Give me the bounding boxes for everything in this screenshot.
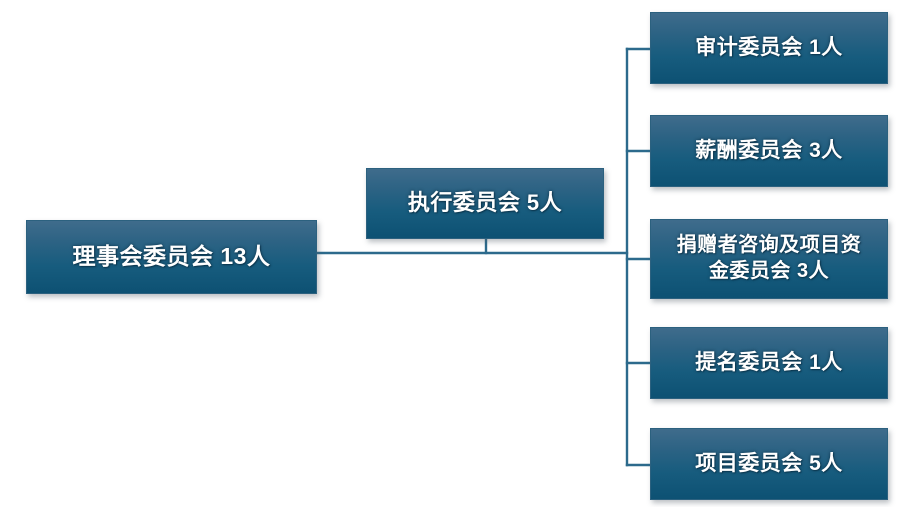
node-audit-committee-label: 审计委员会 1人 <box>689 35 849 62</box>
node-nomination-committee-label: 提名委员会 1人 <box>689 350 849 377</box>
node-executive-committee-label: 执行委员会 5人 <box>402 189 568 217</box>
node-compensation-committee-label: 薪酬委员会 3人 <box>689 138 849 165</box>
node-donor-advisory-committee[interactable]: 捐赠者咨询及项目资 金委员会 3人 <box>650 219 888 299</box>
node-program-committee[interactable]: 项目委员会 5人 <box>650 428 888 500</box>
node-board-committee[interactable]: 理事会委员会 13人 <box>26 220 317 294</box>
org-chart-canvas: 理事会委员会 13人 执行委员会 5人 审计委员会 1人 薪酬委员会 3人 捐赠… <box>0 0 904 507</box>
node-board-committee-label: 理事会委员会 13人 <box>67 242 277 271</box>
node-nomination-committee[interactable]: 提名委员会 1人 <box>650 327 888 399</box>
node-compensation-committee[interactable]: 薪酬委员会 3人 <box>650 115 888 187</box>
node-executive-committee[interactable]: 执行委员会 5人 <box>366 168 604 239</box>
node-program-committee-label: 项目委员会 5人 <box>689 451 849 478</box>
node-audit-committee[interactable]: 审计委员会 1人 <box>650 12 888 84</box>
node-donor-advisory-committee-label: 捐赠者咨询及项目资 金委员会 3人 <box>671 233 868 284</box>
